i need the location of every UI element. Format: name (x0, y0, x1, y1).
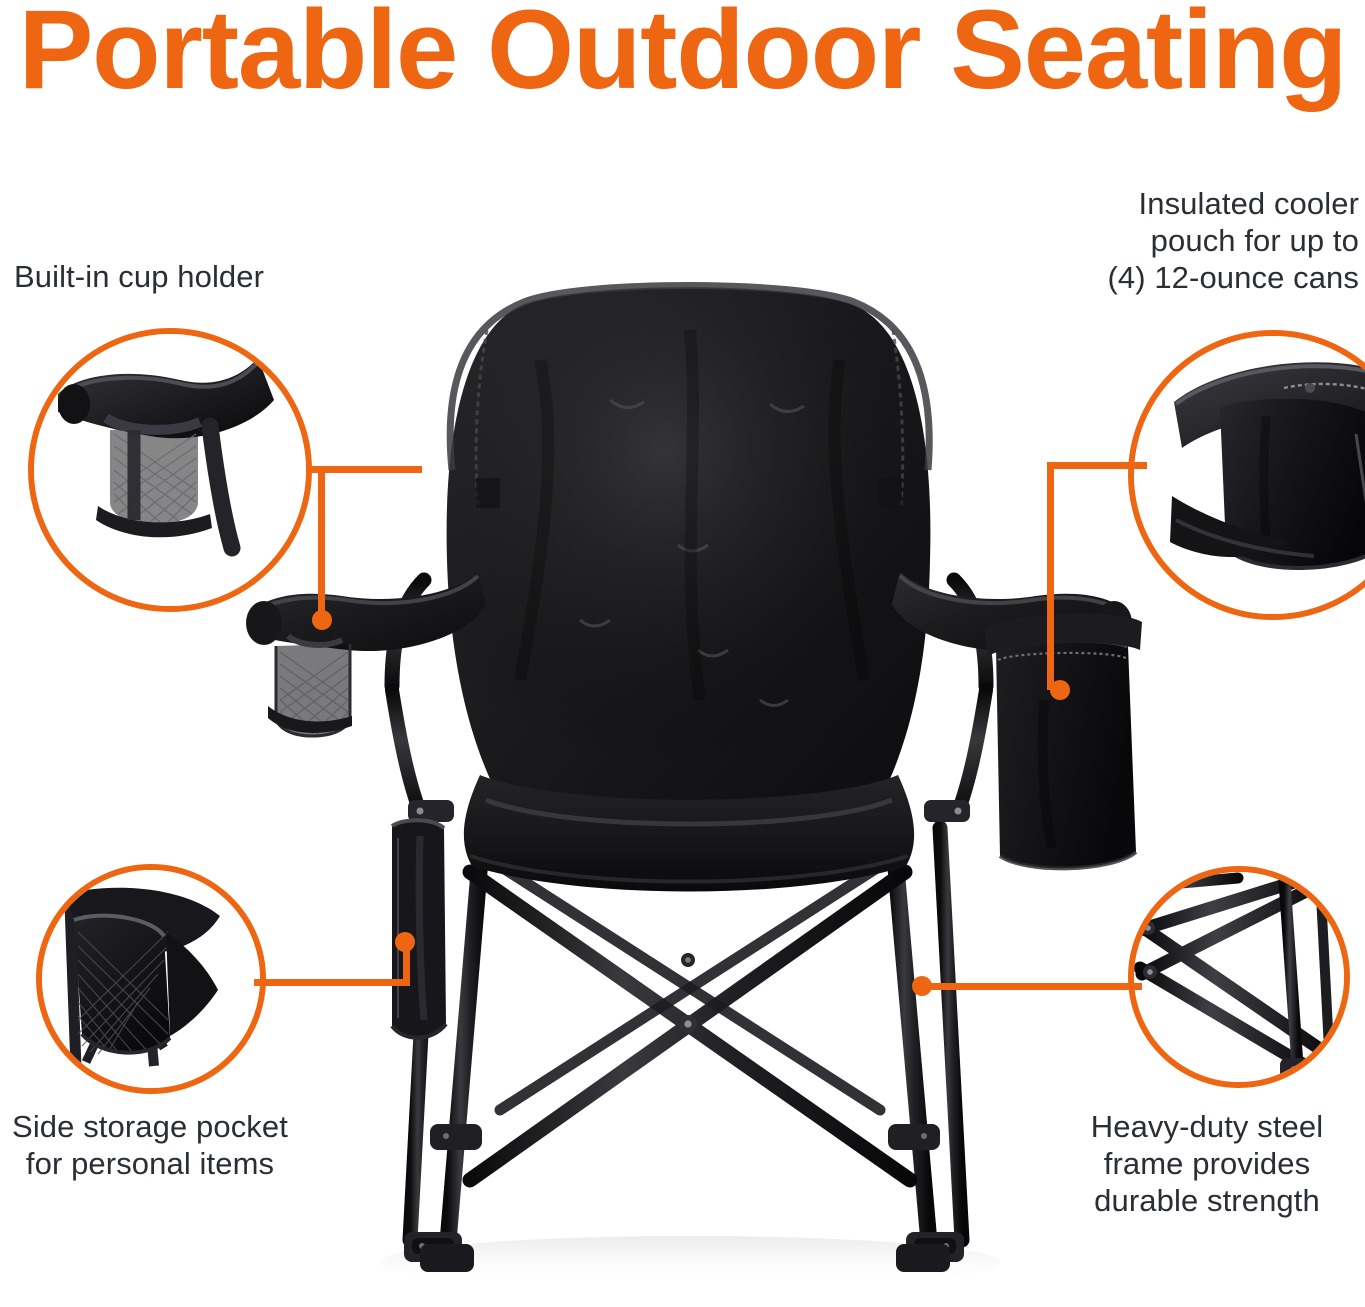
callout-label-side-pocket: Side storage pocket for personal items (0, 1108, 300, 1182)
callout-line-3: (4) 12-ounce cans (939, 259, 1359, 296)
inset-art-cup-holder (34, 334, 306, 606)
inset-art-steel-frame (1134, 872, 1344, 1082)
connector-side-pocket-horizontal (254, 979, 410, 986)
callout-line-2: frame provides (1057, 1145, 1357, 1182)
connector-cup-holder-horizontal (310, 466, 422, 473)
callout-label-steel-frame: Heavy-duty steel frame provides durable … (1057, 1108, 1357, 1219)
connector-dot-side-pocket (395, 932, 415, 952)
connector-steel-frame-horizontal (928, 983, 1142, 990)
callout-label-cup-holder: Built-in cup holder (14, 258, 264, 295)
inset-art-cooler-pouch (1134, 336, 1365, 614)
connector-cooler-vertical (1047, 462, 1054, 690)
connector-cup-holder-vertical (318, 466, 325, 622)
connector-dot-cup-holder (312, 610, 332, 630)
callout-line-2: pouch for up to (939, 222, 1359, 259)
connector-dot-steel-frame (912, 976, 932, 996)
inset-circle-side-pocket (36, 864, 266, 1094)
callout-line-3: durable strength (1057, 1182, 1357, 1219)
callout-line-2: for personal items (0, 1145, 300, 1182)
infographic-page: Portable Outdoor Seating (0, 0, 1365, 1307)
callout-line-1: Heavy-duty steel (1057, 1108, 1357, 1145)
inset-circle-steel-frame (1128, 866, 1350, 1088)
connector-dot-cooler-pouch (1050, 680, 1070, 700)
inset-circle-cup-holder (28, 328, 312, 612)
connector-cooler-horizontal (1047, 462, 1147, 469)
callout-line-1: Side storage pocket (0, 1108, 300, 1145)
callout-label-cooler-pouch: Insulated cooler pouch for up to (4) 12-… (939, 185, 1359, 296)
inset-art-side-pocket (42, 870, 260, 1088)
callout-line-1: Insulated cooler (939, 185, 1359, 222)
